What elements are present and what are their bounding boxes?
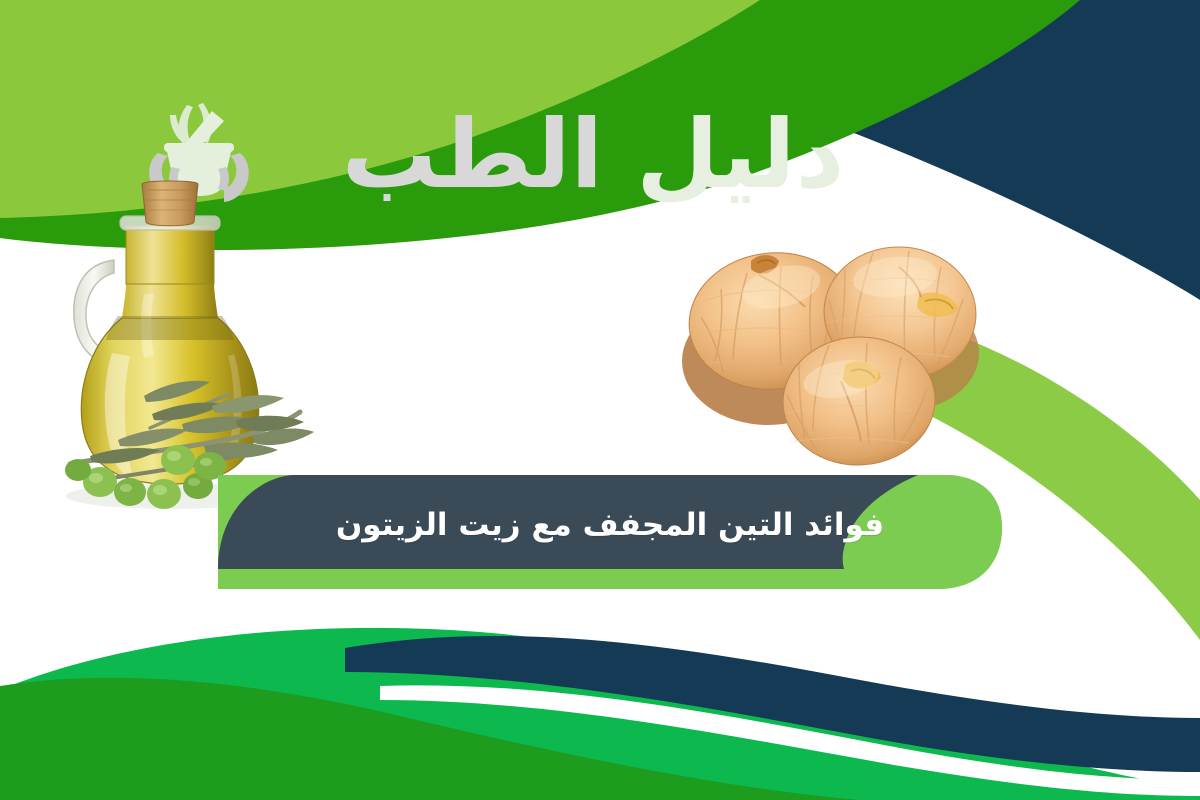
bottle-cork [142, 181, 198, 226]
poster-canvas: دليل الطب [0, 0, 1200, 800]
dried-figs-photo [663, 203, 993, 493]
bottle-neck [126, 226, 214, 284]
page-title: فوائد التين المجفف مع زيت الزيتون [215, 495, 1005, 555]
bottle-shoulder [122, 282, 218, 318]
